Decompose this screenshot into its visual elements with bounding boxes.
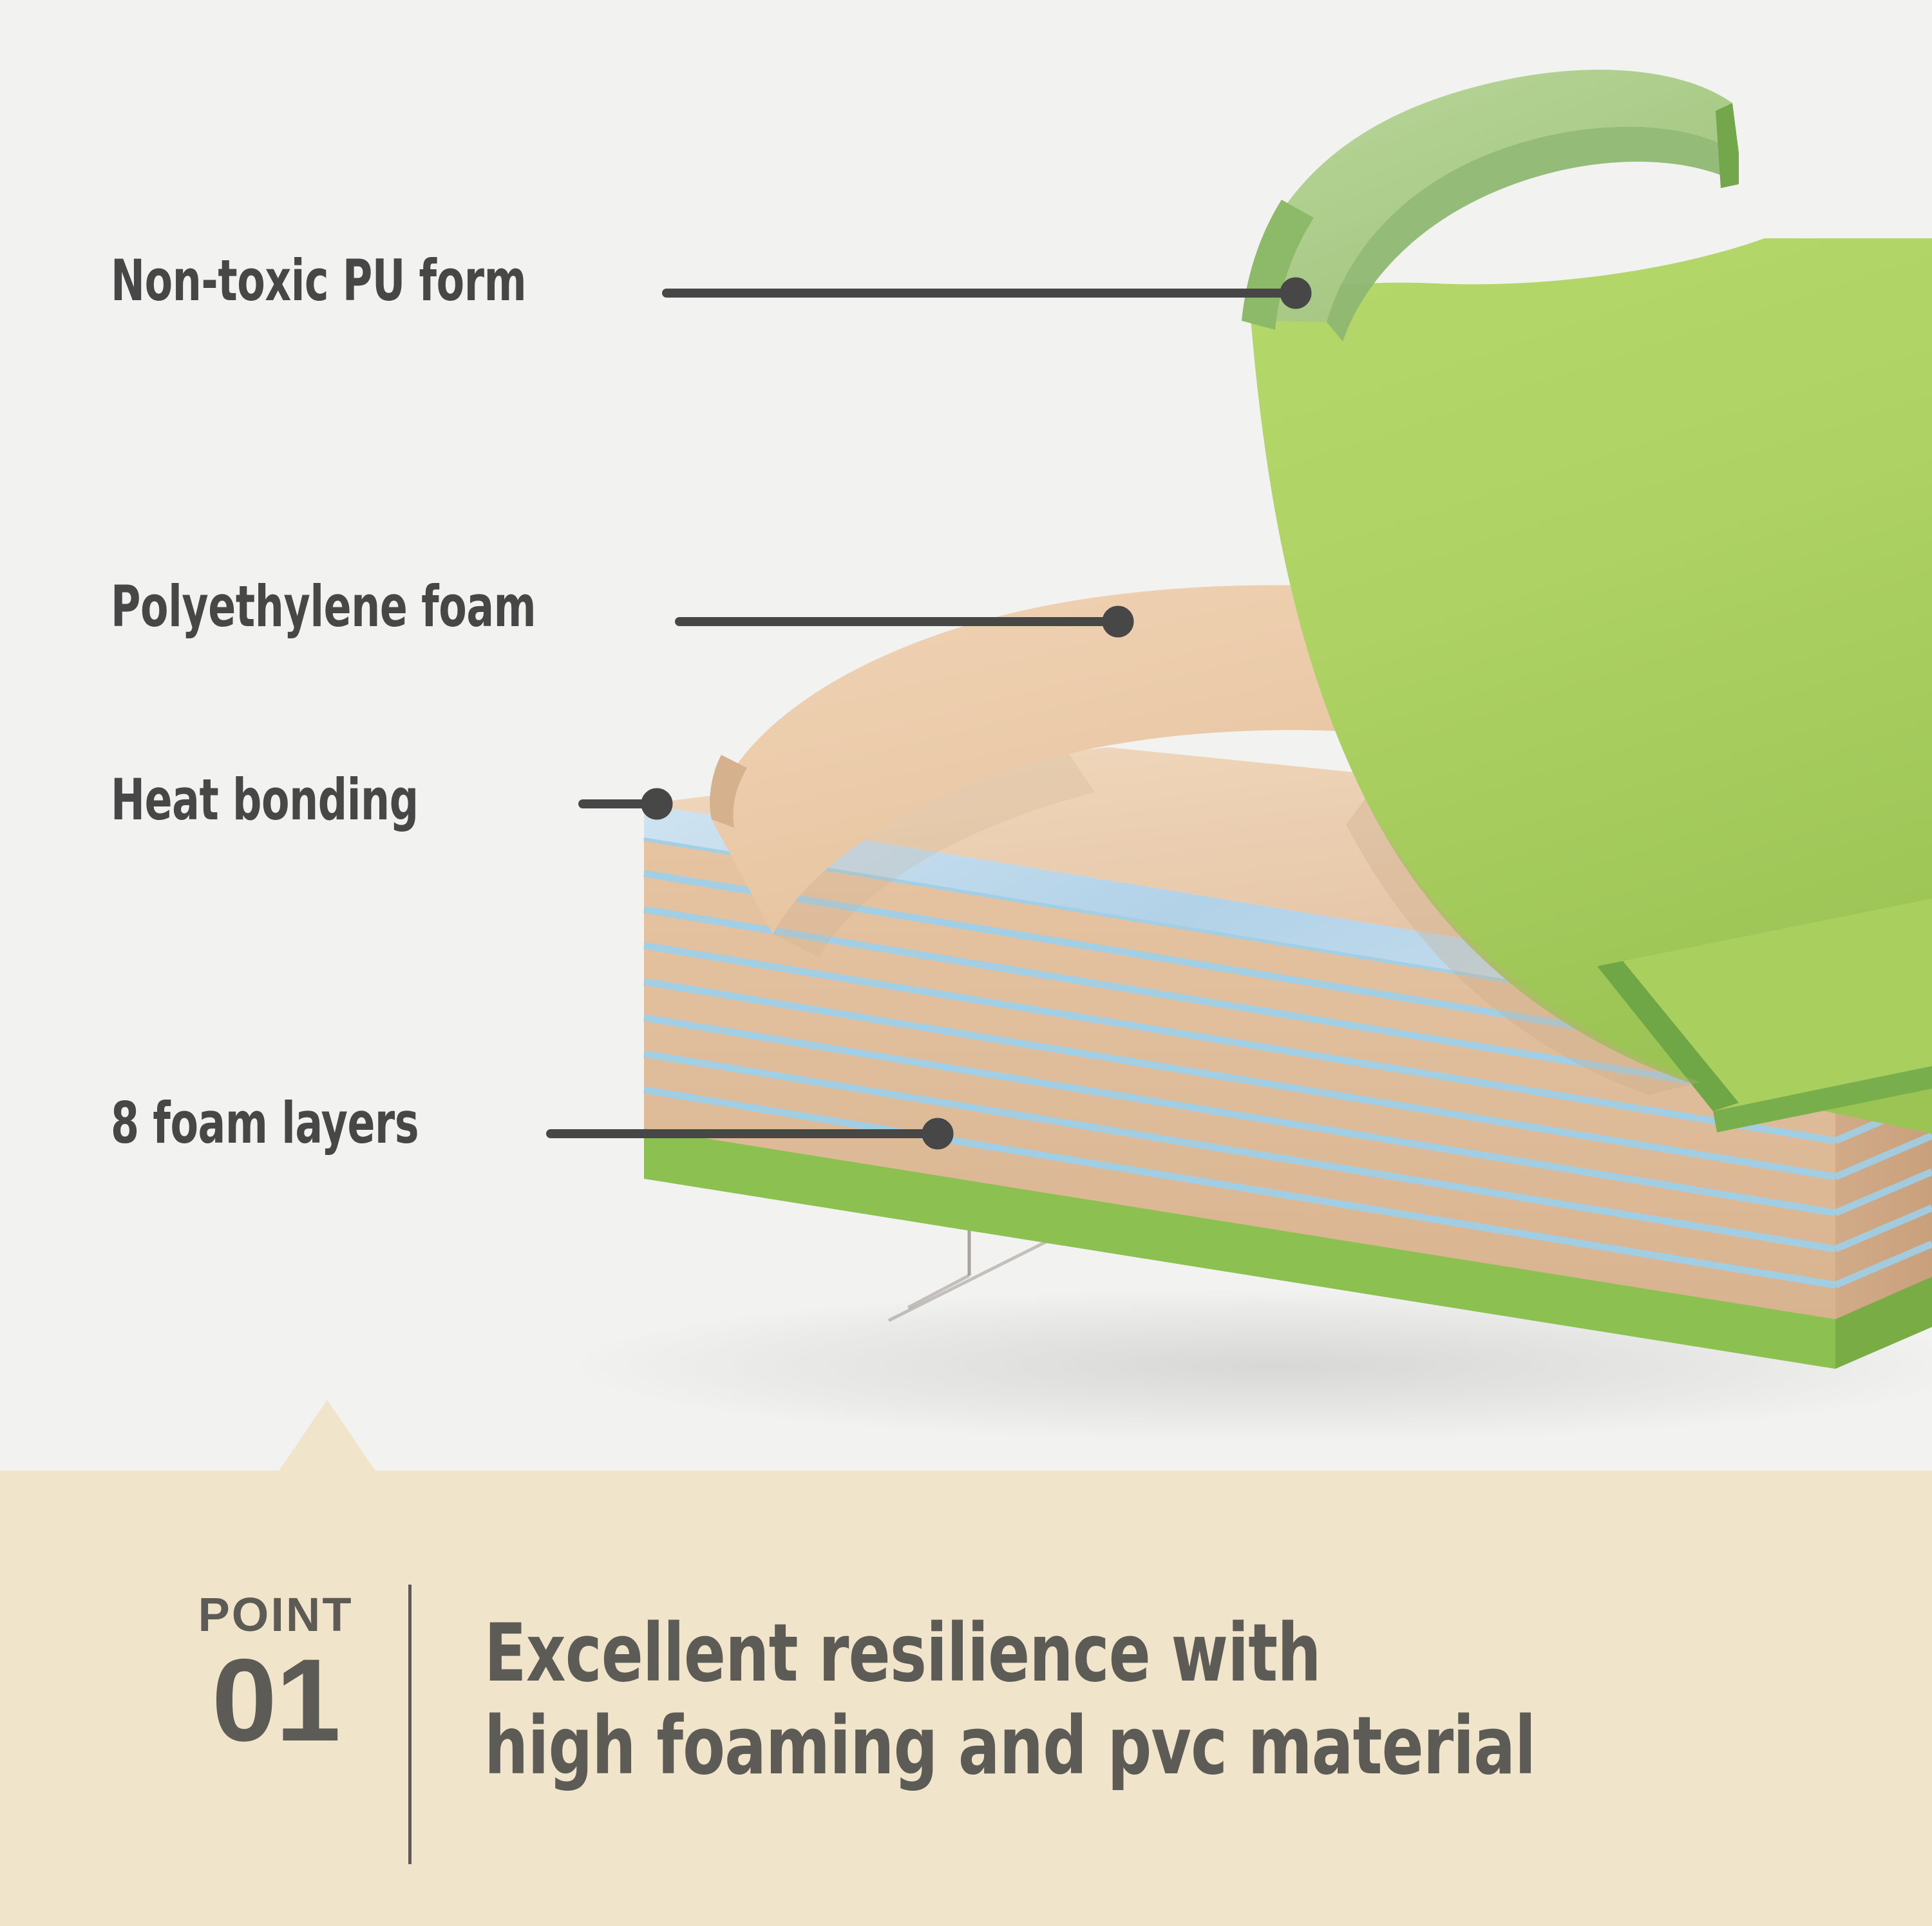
product-illustration: Non-toxic PU form Polyethylene foam Heat… xyxy=(0,0,1932,1471)
callout-label-heat-bonding: Heat bonding xyxy=(111,772,419,828)
banner-notch-triangle xyxy=(278,1400,376,1472)
leader-dot-pe-foam xyxy=(1103,606,1133,637)
pu-form-curl-tip xyxy=(1716,103,1739,188)
callout-label-pu-form: Non-toxic PU form xyxy=(111,253,526,309)
callout-label-foam-layers: 8 foam layers xyxy=(111,1095,419,1152)
leader-dot-foam-layers xyxy=(922,1118,953,1149)
leader-dot-heat-bonding xyxy=(641,788,672,819)
callout-label-polyethylene-foam: Polyethylene foam xyxy=(111,578,536,635)
layered-foam-diagram xyxy=(0,0,1932,1471)
point-word-label: POINT xyxy=(160,1591,392,1639)
point-badge: POINT 01 xyxy=(160,1591,392,1757)
point-divider xyxy=(408,1585,412,1864)
banner-headline: Excellent resilience with high foaming a… xyxy=(484,1608,1535,1793)
leader-dot-pu-form xyxy=(1280,278,1311,309)
infographic-page: Non-toxic PU form Polyethylene foam Heat… xyxy=(0,0,1932,1926)
point-number-label: 01 xyxy=(160,1644,392,1757)
